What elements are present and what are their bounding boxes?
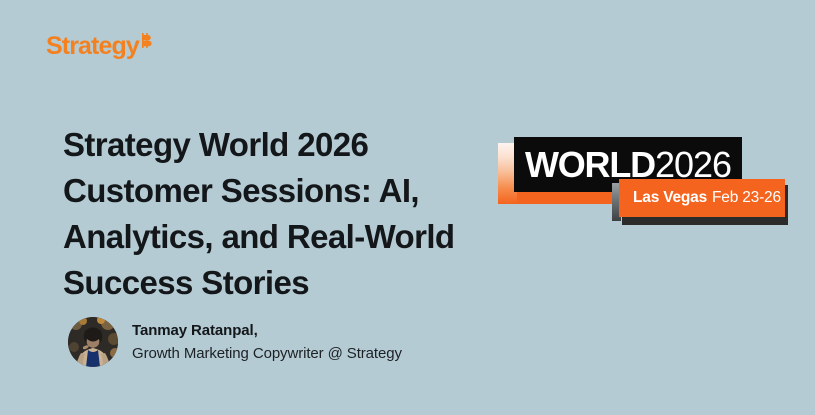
event-badge: WORLD 2026 Las Vegas Feb 23-26 xyxy=(498,137,788,237)
author-name: Tanmay Ratanpal, xyxy=(132,323,402,338)
strategy-logo[interactable]: Strategy xyxy=(46,34,153,59)
headline-line-2: Customer Sessions: AI, xyxy=(63,168,483,214)
author-role: Growth Marketing Copywriter @ Strategy xyxy=(132,346,402,361)
author-byline: Tanmay Ratanpal, Growth Marketing Copywr… xyxy=(68,317,402,367)
badge-location-bar: Las Vegas Feb 23-26 xyxy=(619,179,785,217)
strategy-b-superscript-icon xyxy=(140,33,153,48)
headline-line-4: Success Stories xyxy=(63,260,483,306)
headline-line-1: Strategy World 2026 xyxy=(63,122,483,168)
author-text: Tanmay Ratanpal, Growth Marketing Copywr… xyxy=(132,323,402,361)
badge-dates: Feb 23-26 xyxy=(712,190,781,206)
badge-city: Las Vegas xyxy=(633,190,707,206)
avatar xyxy=(68,317,118,367)
page-title: Strategy World 2026 Customer Sessions: A… xyxy=(63,122,483,306)
promo-banner: Strategy Strategy World 2026 Customer Se… xyxy=(0,0,815,415)
badge-title-year: 2026 xyxy=(655,147,731,183)
badge-title-world: WORLD xyxy=(525,147,655,183)
logo-wordmark: Strategy xyxy=(46,34,139,59)
headline-line-3: Analytics, and Real-World xyxy=(63,214,483,260)
